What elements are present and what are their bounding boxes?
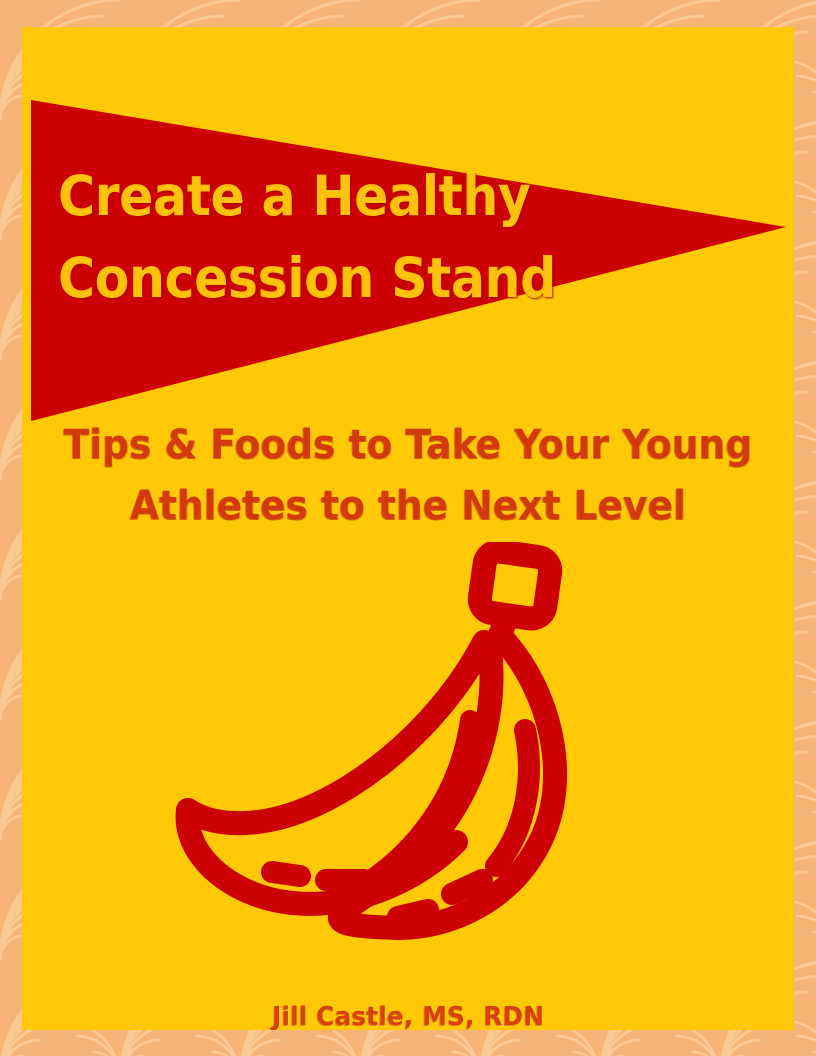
author-block: Jill Castle, MS, RDN — [22, 1002, 794, 1030]
subtitle-block: Tips & Foods to Take Your Young Athletes… — [22, 415, 794, 537]
title-line-1: Create a Healthy — [58, 155, 573, 237]
banana-bunch-icon — [130, 542, 580, 942]
title-line-2: Concession Stand — [58, 237, 573, 319]
author-name: Jill Castle, MS, RDN — [272, 1002, 544, 1030]
book-cover: Create a Healthy Concession Stand Tips &… — [0, 0, 816, 1056]
cover-panel: Create a Healthy Concession Stand Tips &… — [22, 27, 794, 1030]
subtitle-line-1: Tips & Foods to Take Your Young — [45, 415, 771, 476]
subtitle-line-2: Athletes to the Next Level — [45, 476, 771, 537]
title-block: Create a Healthy Concession Stand — [58, 155, 618, 319]
